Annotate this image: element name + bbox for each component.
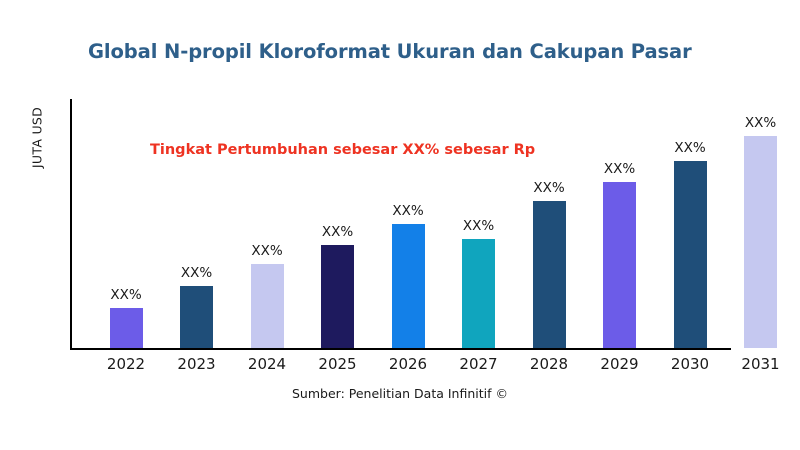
- bar-2028[interactable]: [533, 201, 566, 348]
- bar-value-label-2024: XX%: [237, 243, 297, 259]
- bar-2031[interactable]: [744, 136, 777, 348]
- bar-2029[interactable]: [603, 182, 636, 348]
- bar-value-label-2031: XX%: [731, 115, 791, 131]
- bar-2025[interactable]: [321, 245, 354, 348]
- bar-value-label-2030: XX%: [660, 140, 720, 156]
- x-tick-label-2023: 2023: [167, 355, 227, 373]
- bar-value-label-2023: XX%: [167, 265, 227, 281]
- x-tick-label-2029: 2029: [590, 355, 650, 373]
- x-tick-label-2027: 2027: [449, 355, 509, 373]
- x-tick-label-2031: 2031: [731, 355, 791, 373]
- bar-value-label-2026: XX%: [378, 203, 438, 219]
- bar-2022[interactable]: [110, 308, 143, 348]
- x-tick-label-2028: 2028: [519, 355, 579, 373]
- bar-value-label-2028: XX%: [519, 180, 579, 196]
- bar-2030[interactable]: [674, 161, 707, 348]
- bar-value-label-2022: XX%: [96, 287, 156, 303]
- x-tick-label-2024: 2024: [237, 355, 297, 373]
- bar-value-label-2027: XX%: [449, 218, 509, 234]
- plot-area: XX%2022XX%2023XX%2024XX%2025XX%2026XX%20…: [0, 0, 800, 450]
- x-tick-label-2026: 2026: [378, 355, 438, 373]
- x-tick-label-2030: 2030: [660, 355, 720, 373]
- bar-2026[interactable]: [392, 224, 425, 348]
- chart-figure: Global N-propil Kloroformat Ukuran dan C…: [0, 0, 800, 450]
- source-note: Sumber: Penelitian Data Infinitif ©: [0, 386, 800, 401]
- x-tick-label-2022: 2022: [96, 355, 156, 373]
- bar-2024[interactable]: [251, 264, 284, 348]
- x-tick-label-2025: 2025: [308, 355, 368, 373]
- bar-value-label-2029: XX%: [590, 161, 650, 177]
- bar-2023[interactable]: [180, 286, 213, 348]
- bar-value-label-2025: XX%: [308, 224, 368, 240]
- bar-2027[interactable]: [462, 239, 495, 348]
